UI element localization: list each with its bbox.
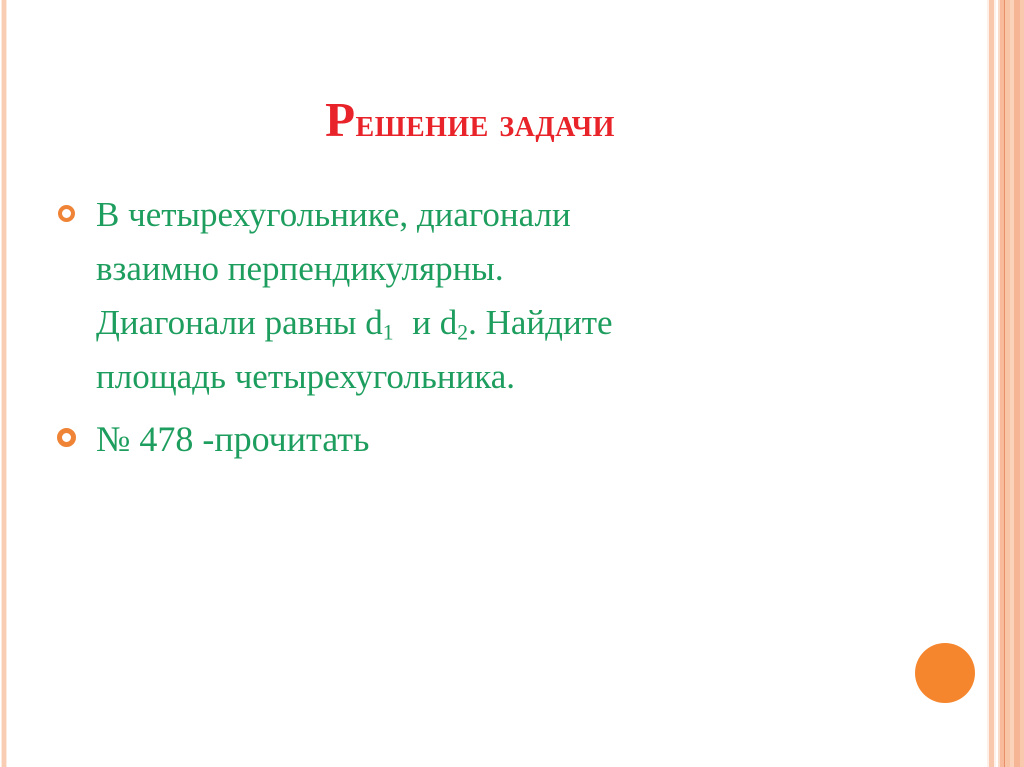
subscript-one: 1 — [383, 321, 394, 345]
title-first-letter: Р — [325, 92, 355, 147]
bullet-line-3: Диагонали равны d1 и d2. Найдите — [96, 296, 912, 350]
bullet-line-3-c: . Найдите — [468, 303, 612, 342]
bullet-line-3-a: Диагонали равны d — [96, 303, 383, 342]
bullet-line-3-b: и d — [404, 303, 458, 342]
subscript-two: 2 — [457, 321, 468, 345]
bullet-list: В четырехугольнике, диагонали взаимно пе… — [52, 188, 912, 472]
list-item: № 478 -прочитать — [52, 412, 912, 466]
slide-canvas: Решение задачи В четырехугольнике, диаго… — [0, 0, 1024, 767]
orange-circle-decoration — [915, 643, 975, 703]
bullet-line-1: В четырехугольнике, диагонали — [96, 188, 912, 242]
hollow-ring-bullet-icon — [58, 205, 75, 222]
page-title: Решение задачи — [0, 97, 940, 146]
hollow-ring-bullet-icon — [57, 428, 76, 447]
bullet-line-2: взаимно перпендикулярны. — [96, 242, 912, 296]
bullet-line-task-number: № 478 -прочитать — [96, 412, 912, 466]
title-rest: ешение задачи — [356, 100, 615, 145]
right-edge-stripe-group — [984, 0, 1024, 767]
bullet-line-4: площадь четырехугольника. — [96, 350, 912, 404]
list-item: В четырехугольнике, диагонали взаимно пе… — [52, 188, 912, 404]
